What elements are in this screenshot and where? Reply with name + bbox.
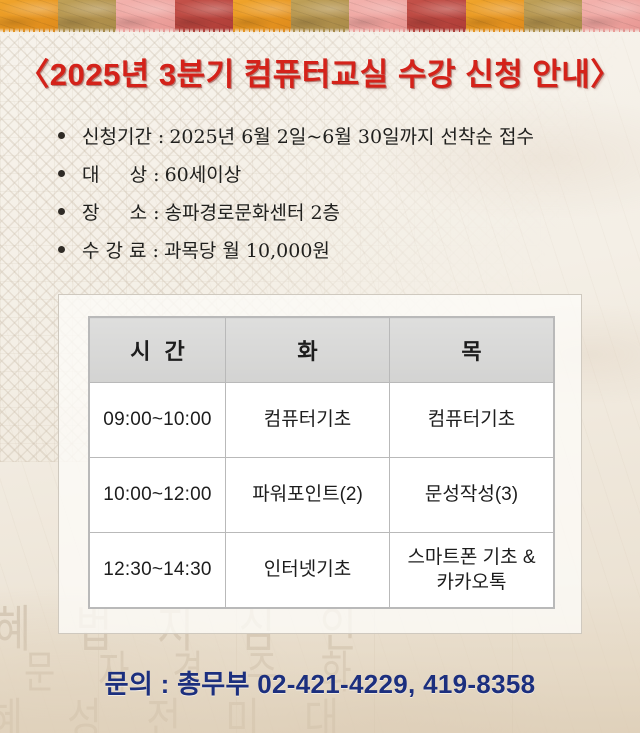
cell-thursday-line1: 문성작성(3): [391, 482, 552, 507]
table-row: 09:00~10:00 컴퓨터기초 컴퓨터기초: [90, 383, 554, 458]
banner-torn-edge: [0, 28, 640, 36]
info-label: 대 상: [82, 160, 147, 187]
cell-tuesday: 인터넷기초: [226, 533, 390, 608]
bullet-dot-icon: [58, 132, 65, 139]
cell-tuesday: 컴퓨터기초: [226, 383, 390, 458]
cell-tuesday: 파워포인트(2): [226, 458, 390, 533]
list-item: 신청기간 : 2025년 6월 2일~6월 30일까지 선착순 접수: [58, 122, 578, 160]
info-value: 60세이상: [165, 160, 242, 187]
schedule-table: 시 간 화 목 09:00~10:00 컴퓨터기초 컴퓨터기초 10:00~12…: [89, 317, 554, 608]
list-item: 대 상 : 60세이상: [58, 160, 578, 198]
info-label: 장 소: [82, 198, 147, 225]
bullet-dot-icon: [58, 170, 65, 177]
poster-canvas: 혜 법 지 심 인 문 자 경 주 화 혜 성 전 미 대 〈2025년 3분기…: [0, 0, 640, 733]
cell-thursday: 컴퓨터기초: [390, 383, 554, 458]
contact-footer: 문의 : 총무부 02-421-4229, 419-8358: [0, 664, 640, 701]
info-separator: :: [153, 240, 159, 262]
page-title: 〈2025년 3분기 컴퓨터교실 수강 신청 안내〉: [0, 49, 640, 94]
cell-time: 12:30~14:30: [90, 533, 226, 608]
info-separator: :: [158, 126, 164, 148]
info-separator: :: [153, 164, 159, 186]
column-header-tuesday: 화: [226, 318, 390, 383]
column-header-thursday: 목: [390, 318, 554, 383]
bullet-dot-icon: [58, 246, 65, 253]
cell-thursday-line1: 스마트폰 기초 &: [391, 545, 552, 570]
info-value: 송파경로문화센터 2층: [165, 198, 340, 225]
info-value: 2025년 6월 2일~6월 30일까지 선착순 접수: [169, 122, 534, 149]
schedule-table-frame: 시 간 화 목 09:00~10:00 컴퓨터기초 컴퓨터기초 10:00~12…: [58, 294, 582, 634]
info-label: 신청기간: [82, 122, 152, 149]
cell-thursday-line2: 카카오톡: [391, 570, 552, 595]
cell-time: 09:00~10:00: [90, 383, 226, 458]
column-header-time: 시 간: [90, 318, 226, 383]
table-row: 10:00~12:00 파워포인트(2) 문성작성(3): [90, 458, 554, 533]
table-row: 12:30~14:30 인터넷기초 스마트폰 기초 & 카카오톡: [90, 533, 554, 608]
info-list: 신청기간 : 2025년 6월 2일~6월 30일까지 선착순 접수 대 상 :…: [58, 122, 578, 274]
cell-thursday-line1: 컴퓨터기초: [391, 407, 552, 432]
cell-time: 10:00~12:00: [90, 458, 226, 533]
cell-thursday: 스마트폰 기초 & 카카오톡: [390, 533, 554, 608]
table-header-row: 시 간 화 목: [90, 318, 554, 383]
list-item: 장 소 : 송파경로문화센터 2층: [58, 198, 578, 236]
info-label: 수 강 료: [82, 236, 147, 263]
info-separator: :: [153, 202, 159, 224]
info-value: 과목당 월 10,000원: [164, 236, 330, 263]
bullet-dot-icon: [58, 208, 65, 215]
list-item: 수 강 료 : 과목당 월 10,000원: [58, 236, 578, 274]
cell-thursday: 문성작성(3): [390, 458, 554, 533]
